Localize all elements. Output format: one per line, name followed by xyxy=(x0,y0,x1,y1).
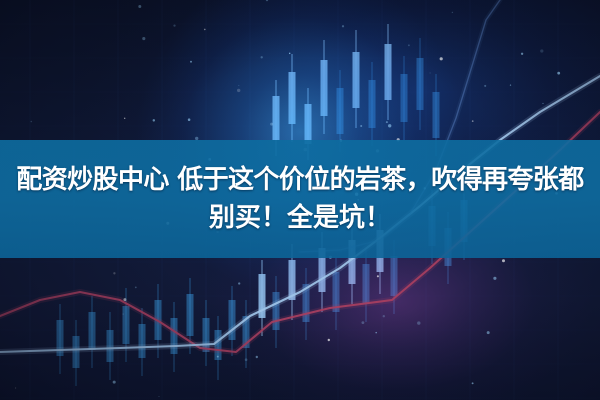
headline-line-2: 别买！全是坑！ xyxy=(0,199,600,237)
headline-line-1: 配资炒股中心 低于这个价位的岩茶，吹得再夸张都 xyxy=(0,161,600,199)
banner-image: 配资炒股中心 低于这个价位的岩茶，吹得再夸张都 别买！全是坑！ xyxy=(0,0,600,400)
headline-text: 配资炒股中心 低于这个价位的岩茶，吹得再夸张都 别买！全是坑！ xyxy=(0,161,600,237)
headline-banner: 配资炒股中心 低于这个价位的岩茶，吹得再夸张都 别买！全是坑！ xyxy=(0,140,600,258)
